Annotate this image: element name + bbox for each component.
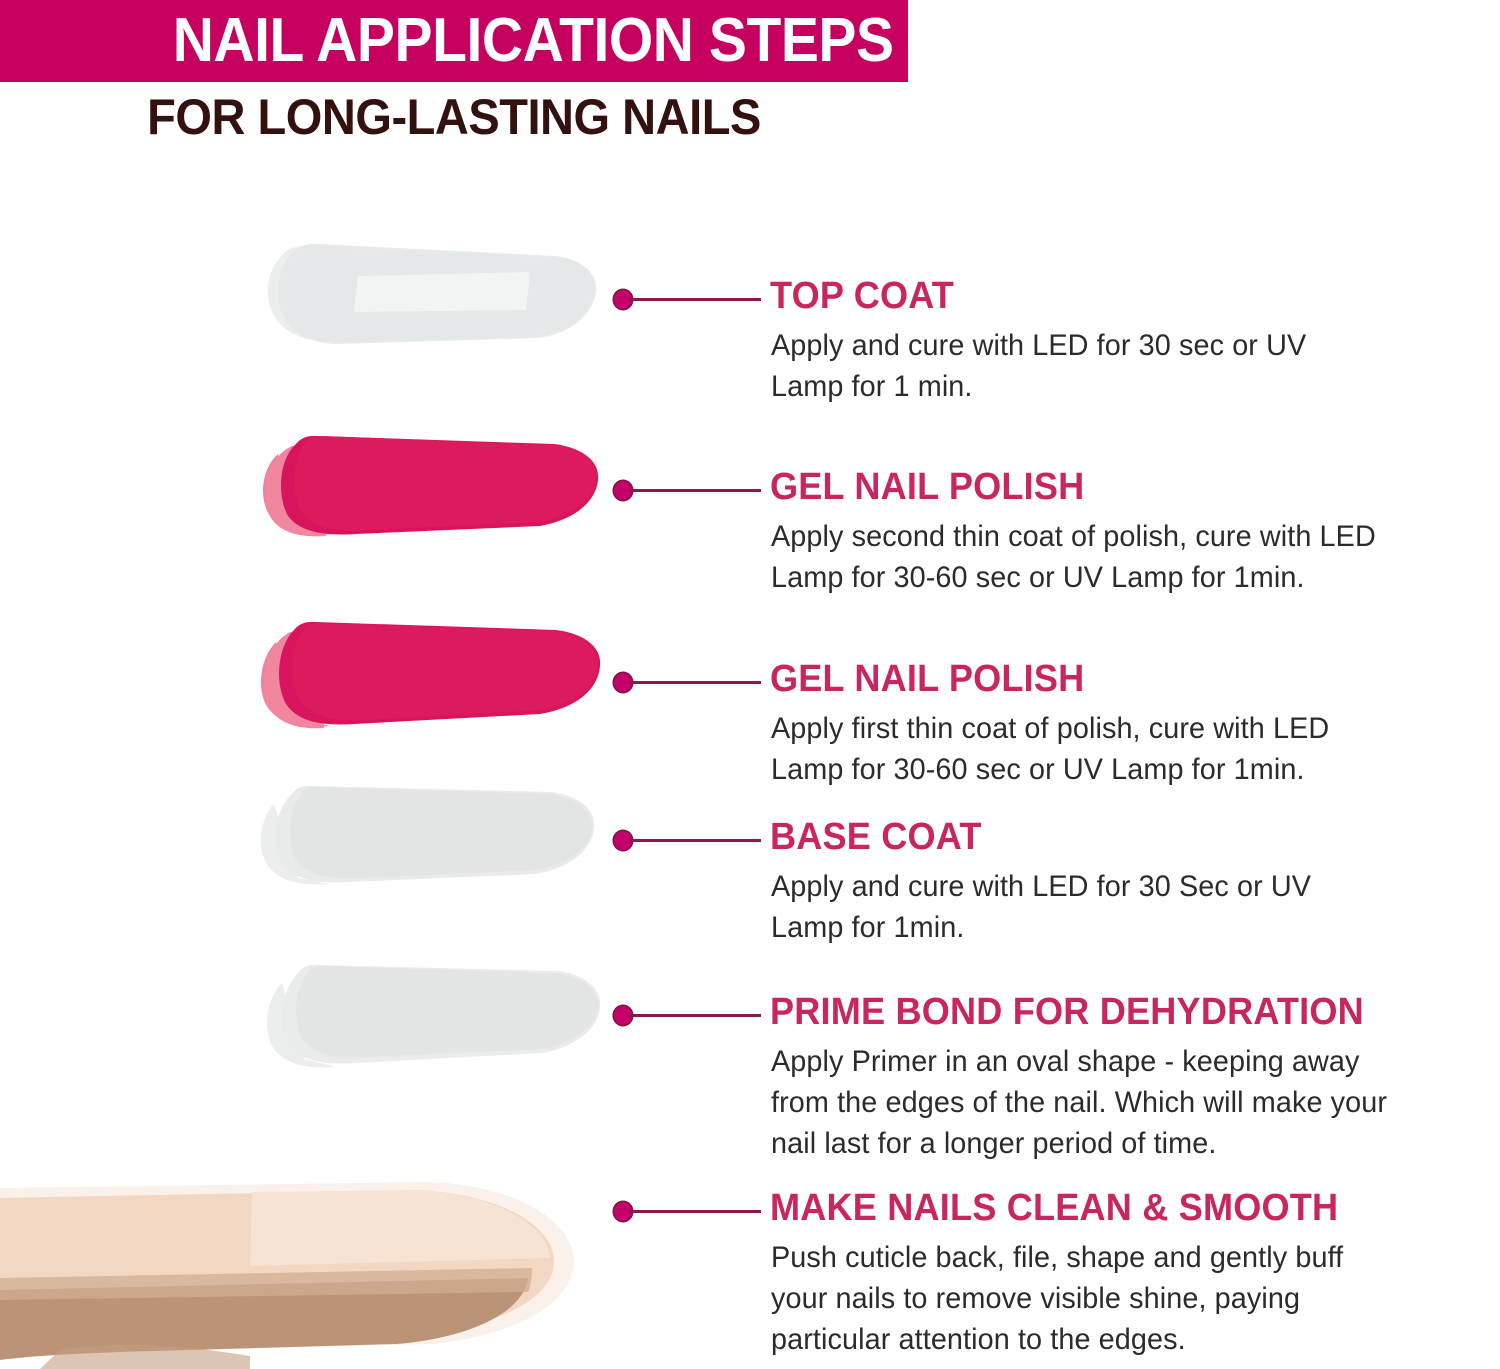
connector-gel-nail-polish-second [612, 478, 762, 502]
layer-illustration-top-coat [238, 232, 608, 352]
step-title: GEL NAIL POLISH [770, 657, 1084, 701]
step-description-line: Lamp for 1 min. [771, 366, 1405, 407]
step-title: PRIME BOND FOR DEHYDRATION [770, 990, 1364, 1034]
step-description-line: Apply first thin coat of polish, cure wi… [771, 708, 1405, 749]
connector-line-icon [629, 681, 761, 684]
connector-line-icon [629, 1014, 761, 1017]
step-description-line: particular attention to the edges. [771, 1319, 1405, 1360]
step-description-line: nail last for a longer period of time. [771, 1123, 1405, 1164]
connector-gel-nail-polish-first [612, 670, 762, 694]
step-description-line: Lamp for 30-60 sec or UV Lamp for 1min. [771, 749, 1405, 790]
step-description: Apply and cure with LED for 30 Sec or UV… [771, 866, 1405, 948]
connector-line-icon [629, 298, 761, 301]
connector-top-coat [612, 287, 762, 311]
step-description-line: your nails to remove visible shine, payi… [771, 1278, 1405, 1319]
step-description: Apply second thin coat of polish, cure w… [771, 516, 1405, 598]
connector-prime-bond [612, 1003, 762, 1027]
infographic-page: NAIL APPLICATION STEPS FOR LONG-LASTING … [0, 0, 1500, 1369]
step-description: Push cuticle back, file, shape and gentl… [771, 1237, 1405, 1360]
page-subtitle: FOR LONG-LASTING NAILS [27, 88, 881, 146]
connector-line-icon [629, 1210, 761, 1213]
connector-line-icon [629, 839, 761, 842]
step-description-line: Lamp for 1min. [771, 907, 1405, 948]
step-description-line: Apply second thin coat of polish, cure w… [771, 516, 1405, 557]
step-description-line: Push cuticle back, file, shape and gentl… [771, 1237, 1405, 1278]
step-description-line: Lamp for 30-60 sec or UV Lamp for 1min. [771, 557, 1405, 598]
step-description-line: Apply Primer in an oval shape - keeping … [771, 1041, 1405, 1082]
layer-illustration-finger [0, 1140, 620, 1369]
step-description-line: Apply and cure with LED for 30 Sec or UV [771, 866, 1405, 907]
step-description: Apply and cure with LED for 30 sec or UV… [771, 325, 1405, 407]
layer-illustration-base-coat [240, 782, 610, 892]
step-title: BASE COAT [770, 815, 982, 859]
step-description-line: from the edges of the nail. Which will m… [771, 1082, 1405, 1123]
connector-base-coat [612, 828, 762, 852]
layer-illustration-gel-polish-first [240, 618, 610, 733]
step-description: Apply first thin coat of polish, cure wi… [771, 708, 1405, 790]
layer-illustration-prime-bond [248, 963, 618, 1073]
step-title: GEL NAIL POLISH [770, 465, 1084, 509]
step-title: MAKE NAILS CLEAN & SMOOTH [770, 1186, 1338, 1230]
page-title: NAIL APPLICATION STEPS [173, 10, 894, 72]
step-description: Apply Primer in an oval shape - keeping … [771, 1041, 1405, 1164]
connector-make-nails-clean-smooth [612, 1199, 762, 1223]
layer-illustration-gel-polish-second [240, 428, 610, 543]
step-description-line: Apply and cure with LED for 30 sec or UV [771, 325, 1405, 366]
connector-line-icon [629, 489, 761, 492]
step-title: TOP COAT [770, 274, 954, 318]
header-banner: NAIL APPLICATION STEPS [0, 0, 908, 82]
